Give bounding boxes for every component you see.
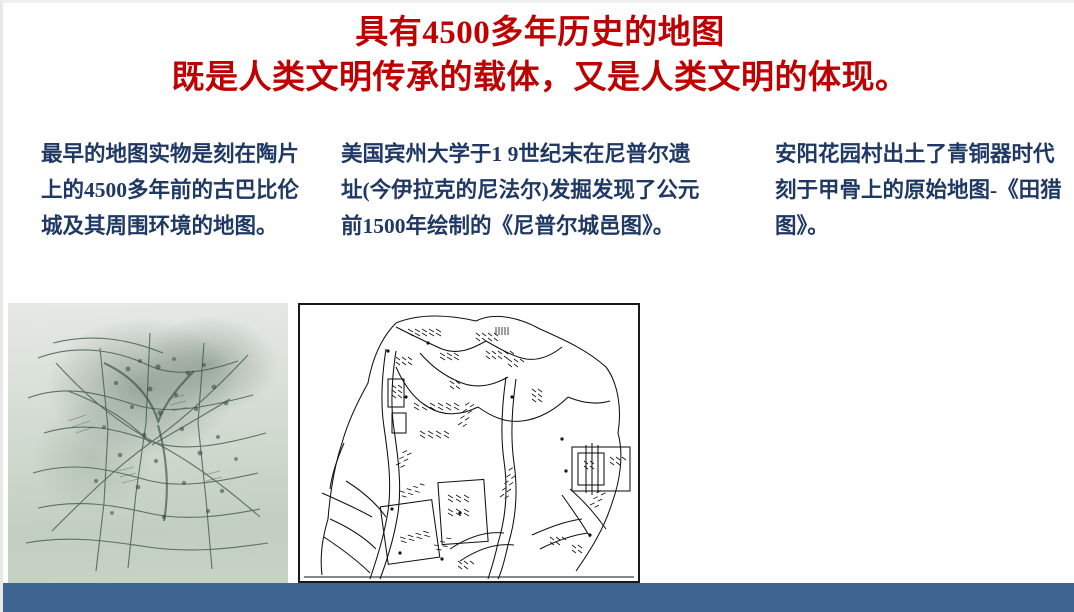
- image-panel-row: [3, 303, 1074, 583]
- image-babylon-clay-tablet-map: [8, 303, 288, 583]
- bottom-bar: [3, 583, 1074, 612]
- text-column-babylon: 最早的地图实物是刻在陶片上的4500多年前的古巴比伦城及其周围环境的地图。: [41, 136, 316, 244]
- image-nippur-city-plan-drawing: [298, 303, 640, 583]
- text-columns: 最早的地图实物是刻在陶片上的4500多年前的古巴比伦城及其周围环境的地图。 美国…: [3, 136, 1074, 296]
- slide-canvas: 具有4500多年历史的地图 既是人类文明传承的载体，又是人类文明的体现。 最早的…: [0, 0, 1074, 612]
- title-line-1: 具有4500多年历史的地图: [3, 11, 1074, 55]
- title-line-2: 既是人类文明传承的载体，又是人类文明的体现。: [3, 55, 1074, 101]
- babylon-tablet-engraving: [8, 303, 288, 583]
- slide-title: 具有4500多年历史的地图 既是人类文明传承的载体，又是人类文明的体现。: [3, 11, 1074, 101]
- text-column-nippur: 美国宾州大学于1 9世纪末在尼普尔遗址(今伊拉克的尼法尔)发掘发现了公元前150…: [341, 136, 701, 244]
- text-column-anyang: 安阳花园村出土了青铜器时代刻于甲骨上的原始地图-《田猎图》。: [775, 136, 1065, 244]
- nippur-plan-linework: [300, 305, 638, 581]
